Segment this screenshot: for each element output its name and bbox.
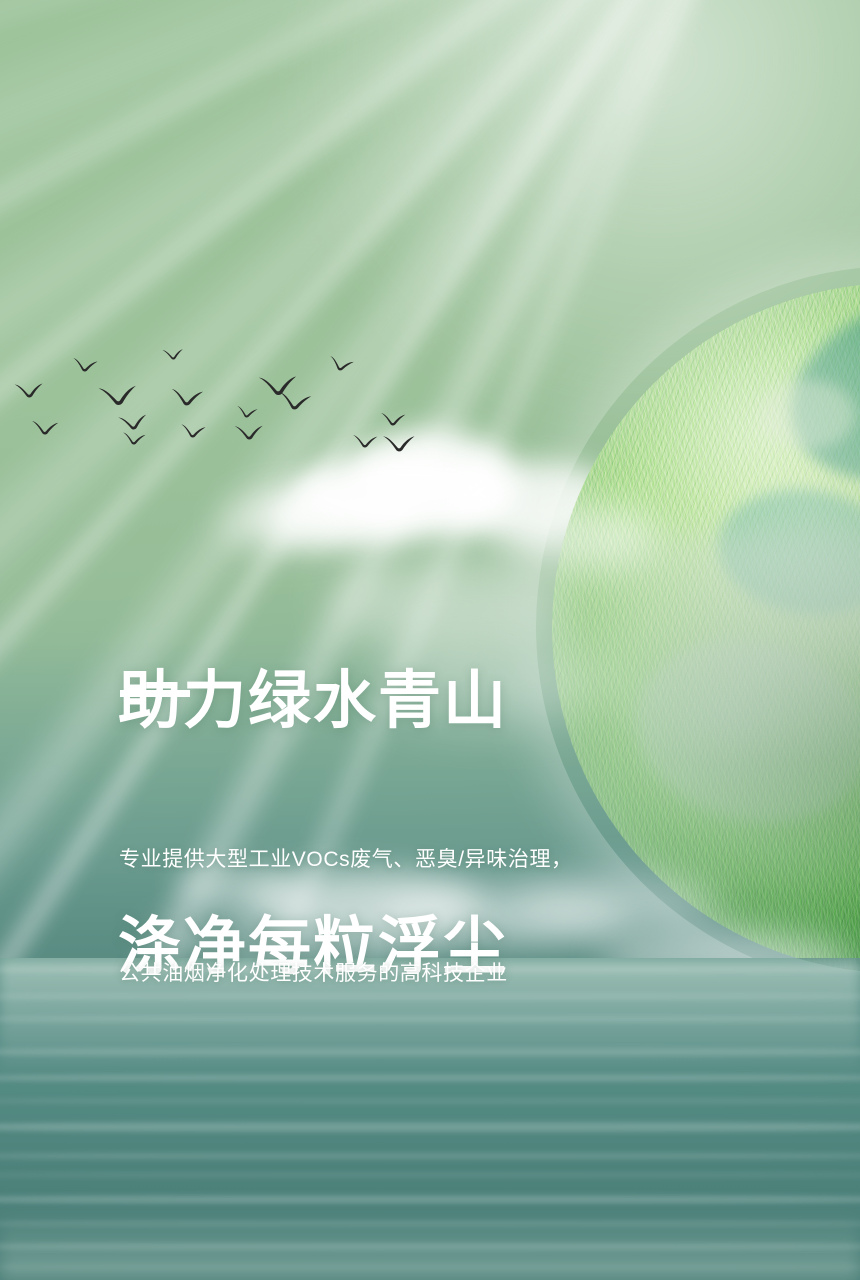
subtitle-line-1: 专业提供大型工业VOCs废气、恶臭/异味治理， bbox=[119, 841, 573, 879]
earth-globe bbox=[552, 283, 860, 973]
bird-icon bbox=[235, 405, 258, 420]
bird-icon bbox=[13, 381, 44, 399]
eco-hero-poster: 助力绿水青山 涤净每粒浮尘 专业提供大型工业VOCs废气、恶臭/异味治理， 公共… bbox=[0, 0, 860, 1280]
bird-icon bbox=[96, 376, 139, 414]
bird-icon bbox=[170, 387, 205, 407]
headline-line-1: 助力绿水青山 bbox=[118, 660, 508, 742]
water-ripple bbox=[0, 1194, 860, 1205]
bird-icon bbox=[122, 431, 147, 446]
water-ripple bbox=[0, 1172, 860, 1178]
cloud-puff bbox=[500, 500, 660, 570]
bird-icon bbox=[277, 391, 312, 412]
water-foreground-sheen bbox=[0, 1210, 860, 1280]
bird-icon bbox=[382, 433, 417, 452]
water-ripple bbox=[0, 1152, 860, 1160]
bird-icon bbox=[71, 357, 98, 374]
subtitle-line-2: 公共油烟净化处理技术服务的高科技企业 bbox=[119, 955, 573, 993]
page-subtitle: 专业提供大型工业VOCs废气、恶臭/异味治理， 公共油烟净化处理技术服务的高科技… bbox=[119, 765, 573, 1069]
bird-icon bbox=[234, 423, 265, 441]
bird-icon bbox=[380, 412, 406, 427]
bird-icon bbox=[162, 347, 185, 361]
headline-divider bbox=[120, 690, 190, 697]
bird-icon bbox=[30, 419, 61, 435]
bird-icon bbox=[179, 423, 206, 439]
bird-icon bbox=[352, 434, 378, 449]
